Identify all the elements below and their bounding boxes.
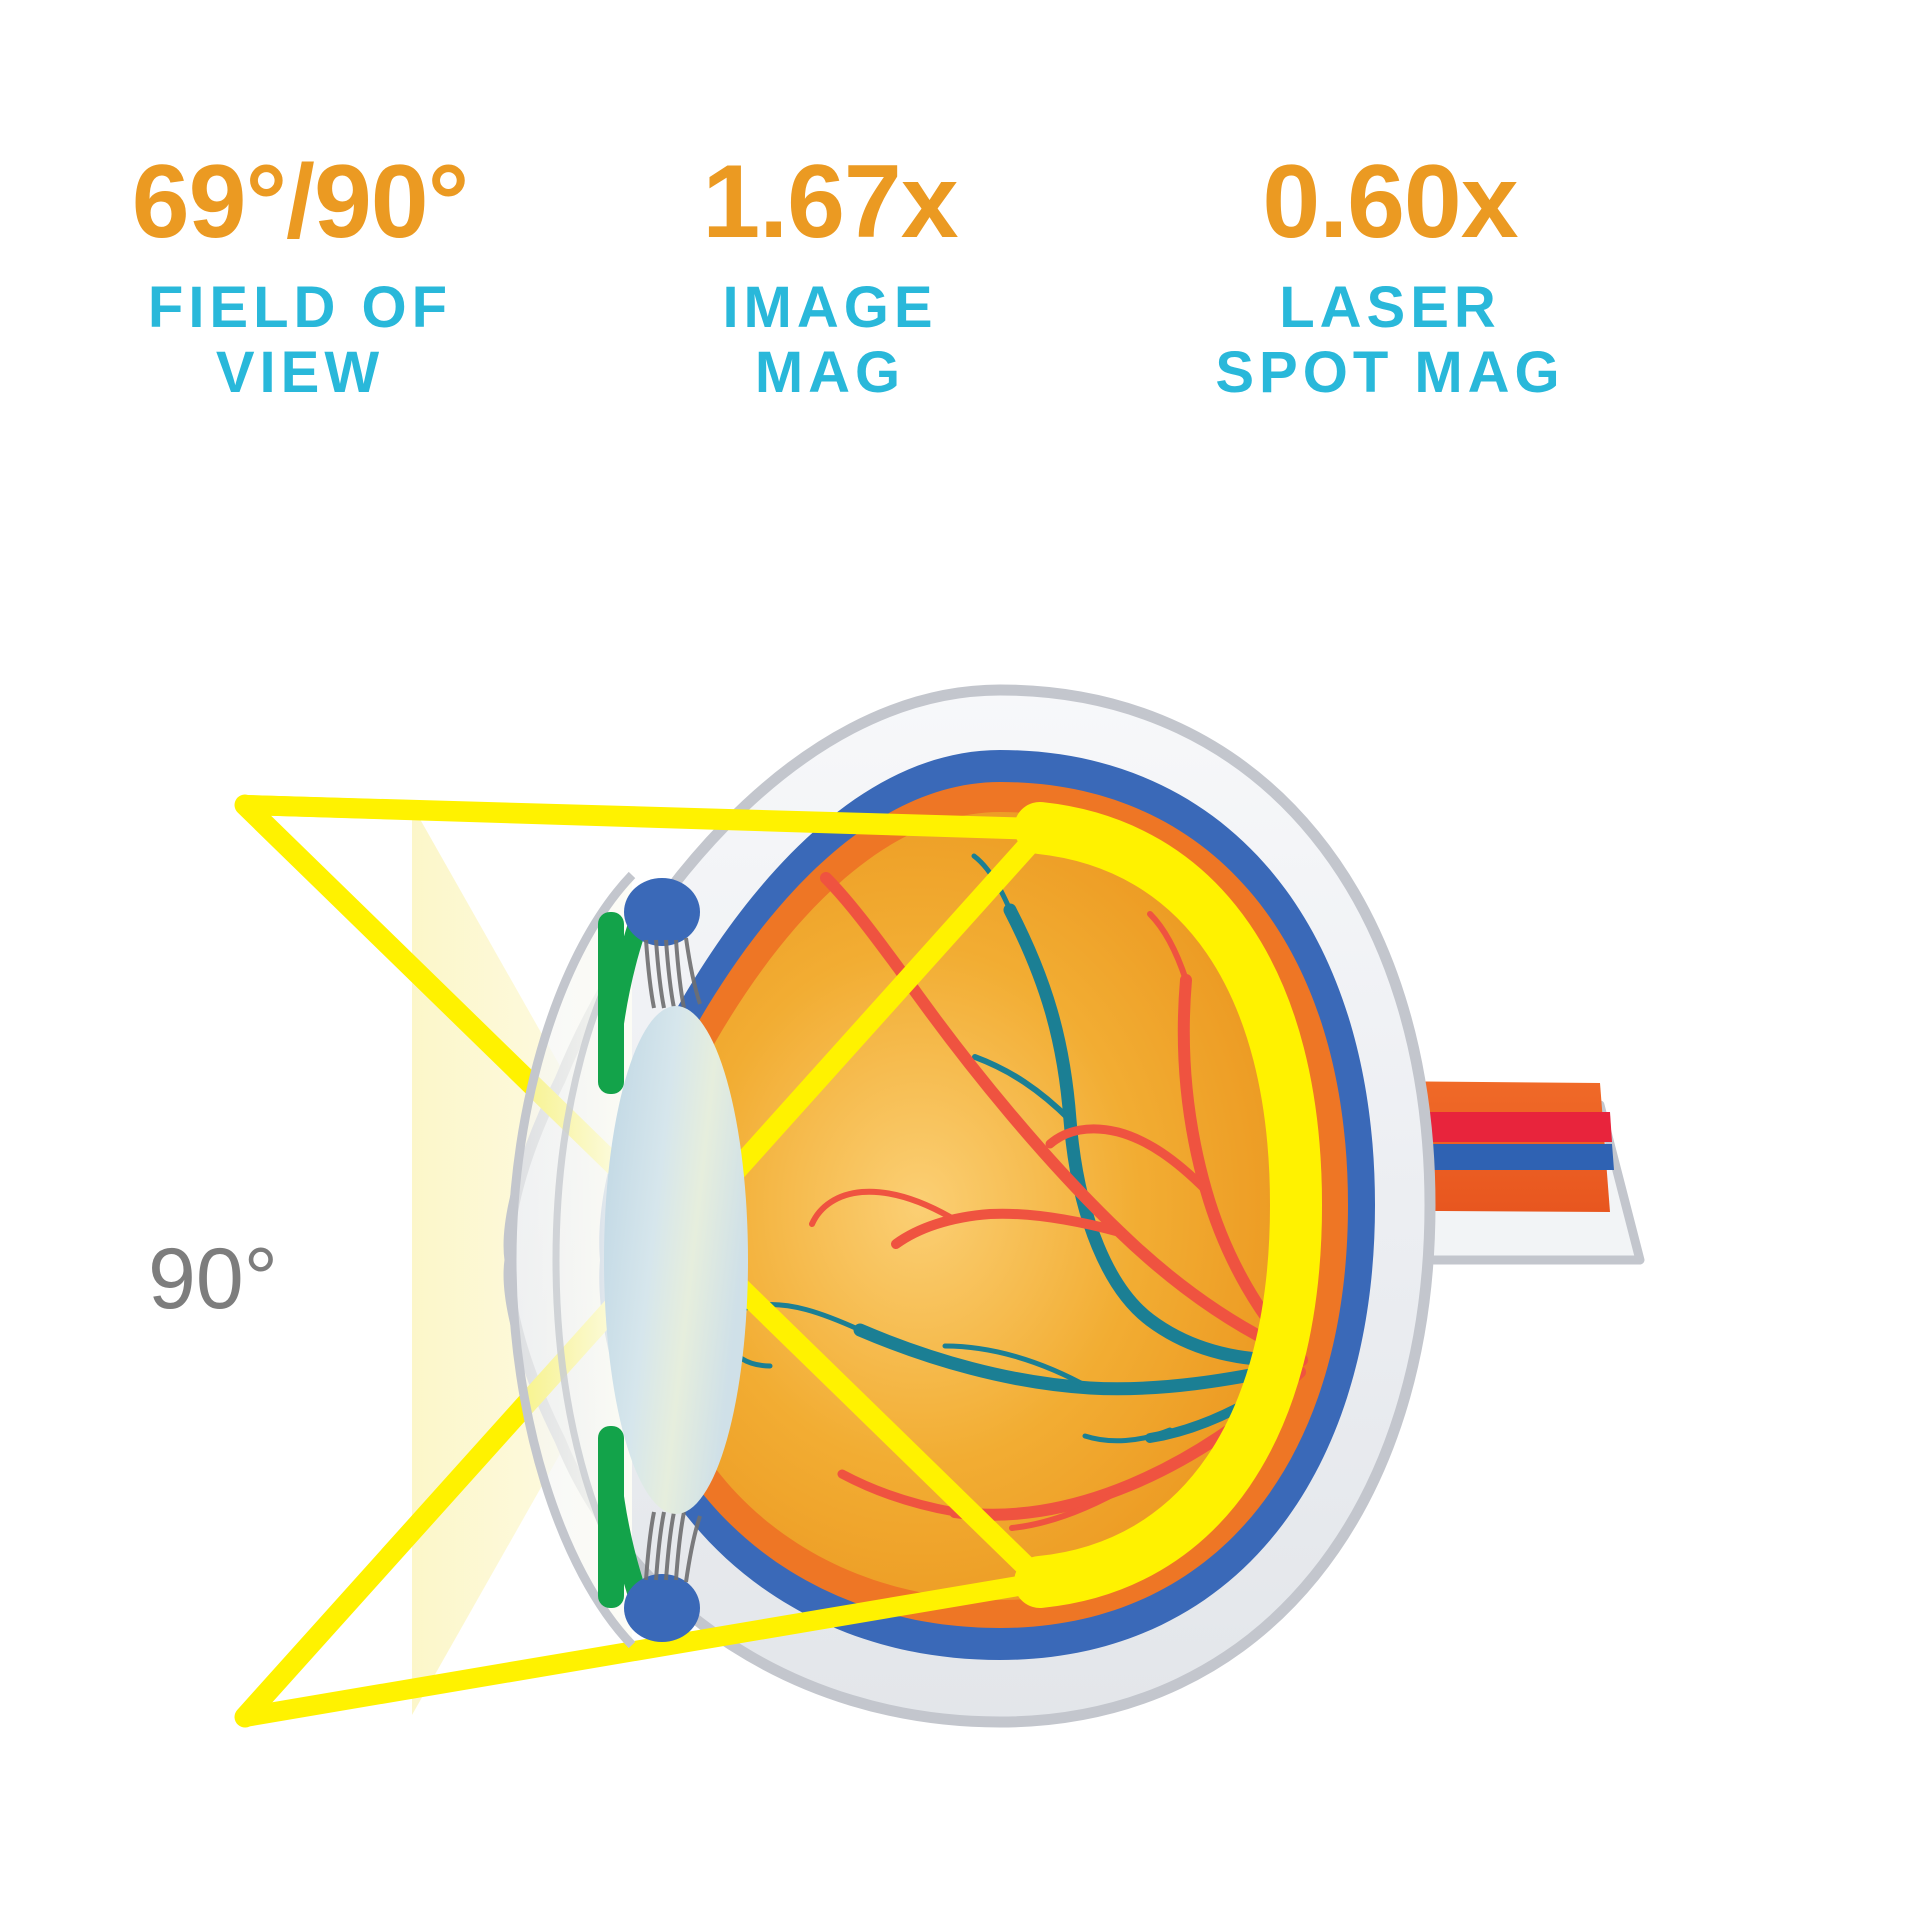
stat-label-line2: VIEW [20,341,580,406]
stat-label-field-of-view: FIELD OF VIEW [20,276,580,406]
stat-label-line1: FIELD OF [20,276,580,341]
eye-cross-section-diagram [0,560,1920,1820]
stat-label-line1: IMAGE [640,276,1020,341]
lens [604,1006,748,1514]
stat-value-field-of-view: 69°/90° [20,150,580,254]
stat-label-line1: LASER [1100,276,1680,341]
stats-row: 69°/90° FIELD OF VIEW 1.67x IMAGE MAG 0.… [0,150,1920,480]
stat-label-line2: SPOT MAG [1100,341,1680,406]
stat-label-line2: MAG [640,341,1020,406]
page-root: 69°/90° FIELD OF VIEW 1.67x IMAGE MAG 0.… [0,0,1920,1920]
stat-label-laser-spot-mag: LASER SPOT MAG [1100,276,1680,406]
stat-field-of-view: 69°/90° FIELD OF VIEW [20,150,580,406]
stat-image-mag: 1.67x IMAGE MAG [640,150,1020,406]
stat-value-laser-spot-mag: 0.60x [1100,150,1680,254]
stat-value-image-mag: 1.67x [640,150,1020,254]
stat-laser-spot-mag: 0.60x LASER SPOT MAG [1100,150,1680,406]
stat-label-image-mag: IMAGE MAG [640,276,1020,406]
